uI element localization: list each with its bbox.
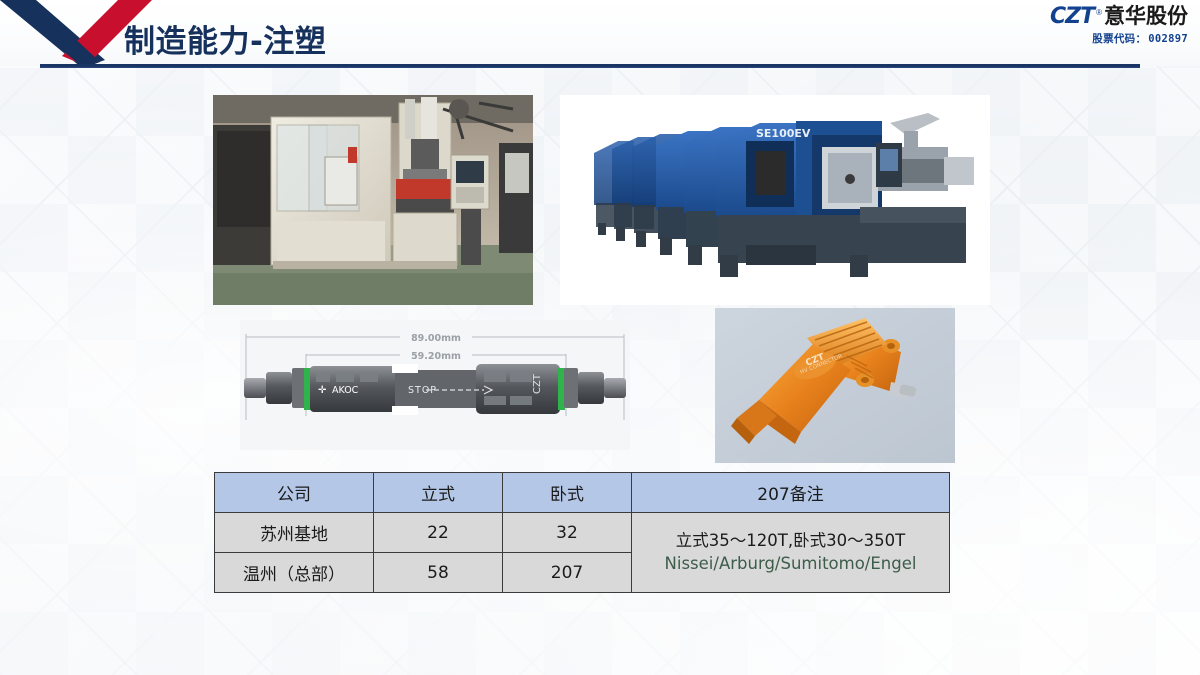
logo-company-name-cn: 意华股份 (1104, 6, 1188, 27)
page-title: 制造能力-注塑 (124, 16, 326, 61)
stock-code: 002897 (1148, 33, 1188, 45)
cell-company-wenzhou: 温州（总部） (215, 553, 374, 593)
stock-label: 股票代码： (1092, 31, 1146, 46)
slide-header: 制造能力-注塑 CZT ® 意华股份 股票代码： 002897 (0, 0, 1200, 75)
cell-horizontal-suzhou: 32 (503, 513, 632, 553)
cell-vertical-wenzhou: 58 (374, 553, 503, 593)
svg-text:AKOC: AKOC (332, 385, 359, 396)
svg-text:CZT: CZT (532, 373, 543, 394)
logo-czt-text: CZT (1050, 6, 1094, 28)
header-notes: 207备注 (632, 473, 950, 513)
registered-trademark-icon: ® (1096, 9, 1102, 17)
orange-hv-connector-3d-render: CZT HV CONNECTOR (715, 308, 955, 463)
table-header-row: 公司 立式 卧式 207备注 (215, 473, 950, 513)
notes-line-2: Nissei/Arburg/Sumitomo/Engel (638, 553, 943, 575)
notes-line-1: 立式35～120T,卧式30～350T (638, 530, 943, 552)
logo-wordmark-row: CZT ® 意华股份 (1008, 6, 1188, 28)
connector-cad-dimension-drawing: 89.00mm 59.20mm ✛ (240, 320, 630, 450)
dimension-label-overall: 89.00mm (411, 333, 461, 344)
header-vertical: 立式 (374, 473, 503, 513)
cell-vertical-suzhou: 22 (374, 513, 503, 553)
cell-horizontal-wenzhou: 207 (503, 553, 632, 593)
svg-text:SE100EV: SE100EV (756, 127, 811, 140)
logo-stock-row: 股票代码： 002897 (1008, 31, 1188, 46)
slide-root: 制造能力-注塑 CZT ® 意华股份 股票代码： 002897 (0, 0, 1200, 675)
header-company: 公司 (215, 473, 374, 513)
dimension-label-inner: 59.20mm (411, 351, 461, 362)
injection-machine-table: 公司 立式 卧式 207备注 苏州基地 22 32 立式35～120T,卧式30… (214, 472, 950, 593)
svg-text:✛: ✛ (318, 385, 327, 396)
header-horizontal: 卧式 (503, 473, 632, 513)
vertical-injection-molding-machine-photo (213, 95, 533, 305)
table-row: 苏州基地 22 32 立式35～120T,卧式30～350T Nissei/Ar… (215, 513, 950, 553)
cell-notes-merged: 立式35～120T,卧式30～350T Nissei/Arburg/Sumito… (632, 513, 950, 593)
title-underline-rule (40, 64, 1140, 68)
company-logo: CZT ® 意华股份 股票代码： 002897 (1008, 6, 1188, 56)
horizontal-injection-molding-machines-row-photo: SE100EV (560, 95, 990, 305)
cell-company-suzhou: 苏州基地 (215, 513, 374, 553)
svg-text:STOP: STOP (408, 385, 437, 396)
